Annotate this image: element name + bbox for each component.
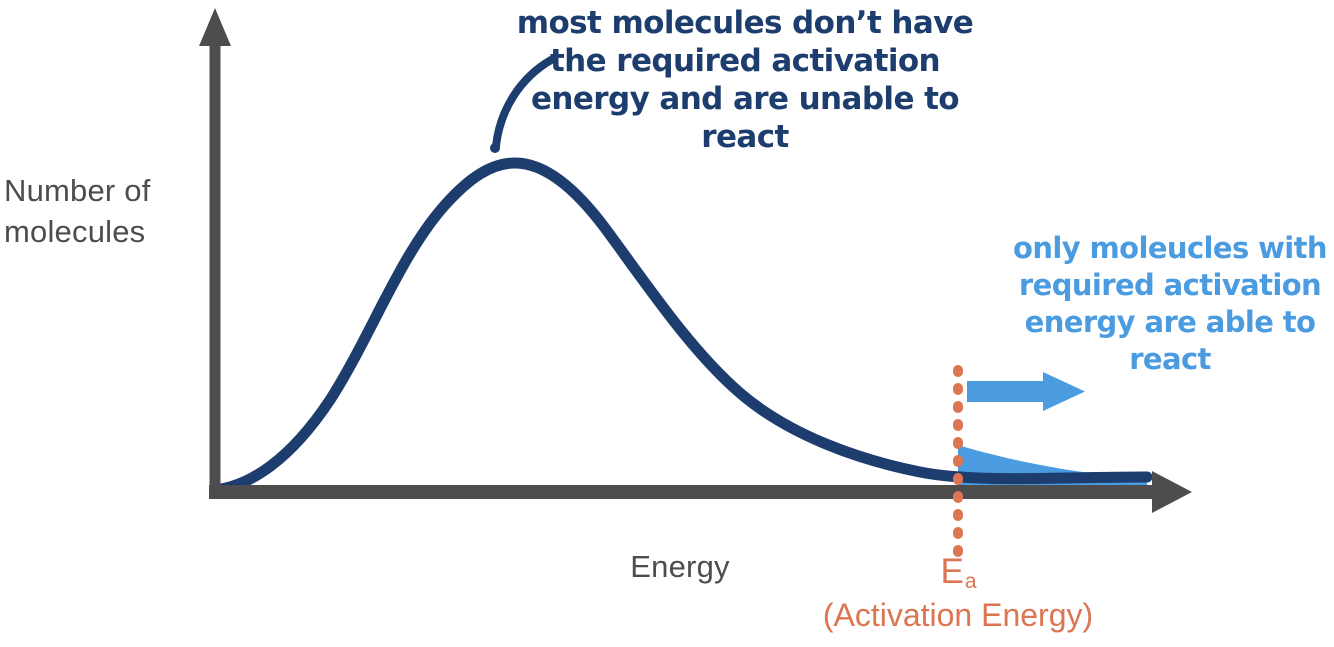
diagram-canvas: Number of molecules Energy most molecule… [0,0,1334,647]
x-axis-label: Energy [580,546,780,587]
callout-leader-dot [490,143,500,153]
annotation-reactive-molecules: only moleucles with required activation … [1000,230,1334,378]
annotation-unreactive-molecules: most molecules don’t have the required a… [500,4,990,156]
ea-symbol-subscript: a [965,570,977,593]
activation-energy-symbol: Ea [898,553,1018,596]
activation-energy-caption: (Activation Energy) [788,597,1128,633]
x-axis-arrowhead [1152,471,1192,513]
ea-symbol-letter: E [940,552,963,591]
y-axis-arrowhead [199,8,231,46]
y-axis-label: Number of molecules [4,170,194,252]
